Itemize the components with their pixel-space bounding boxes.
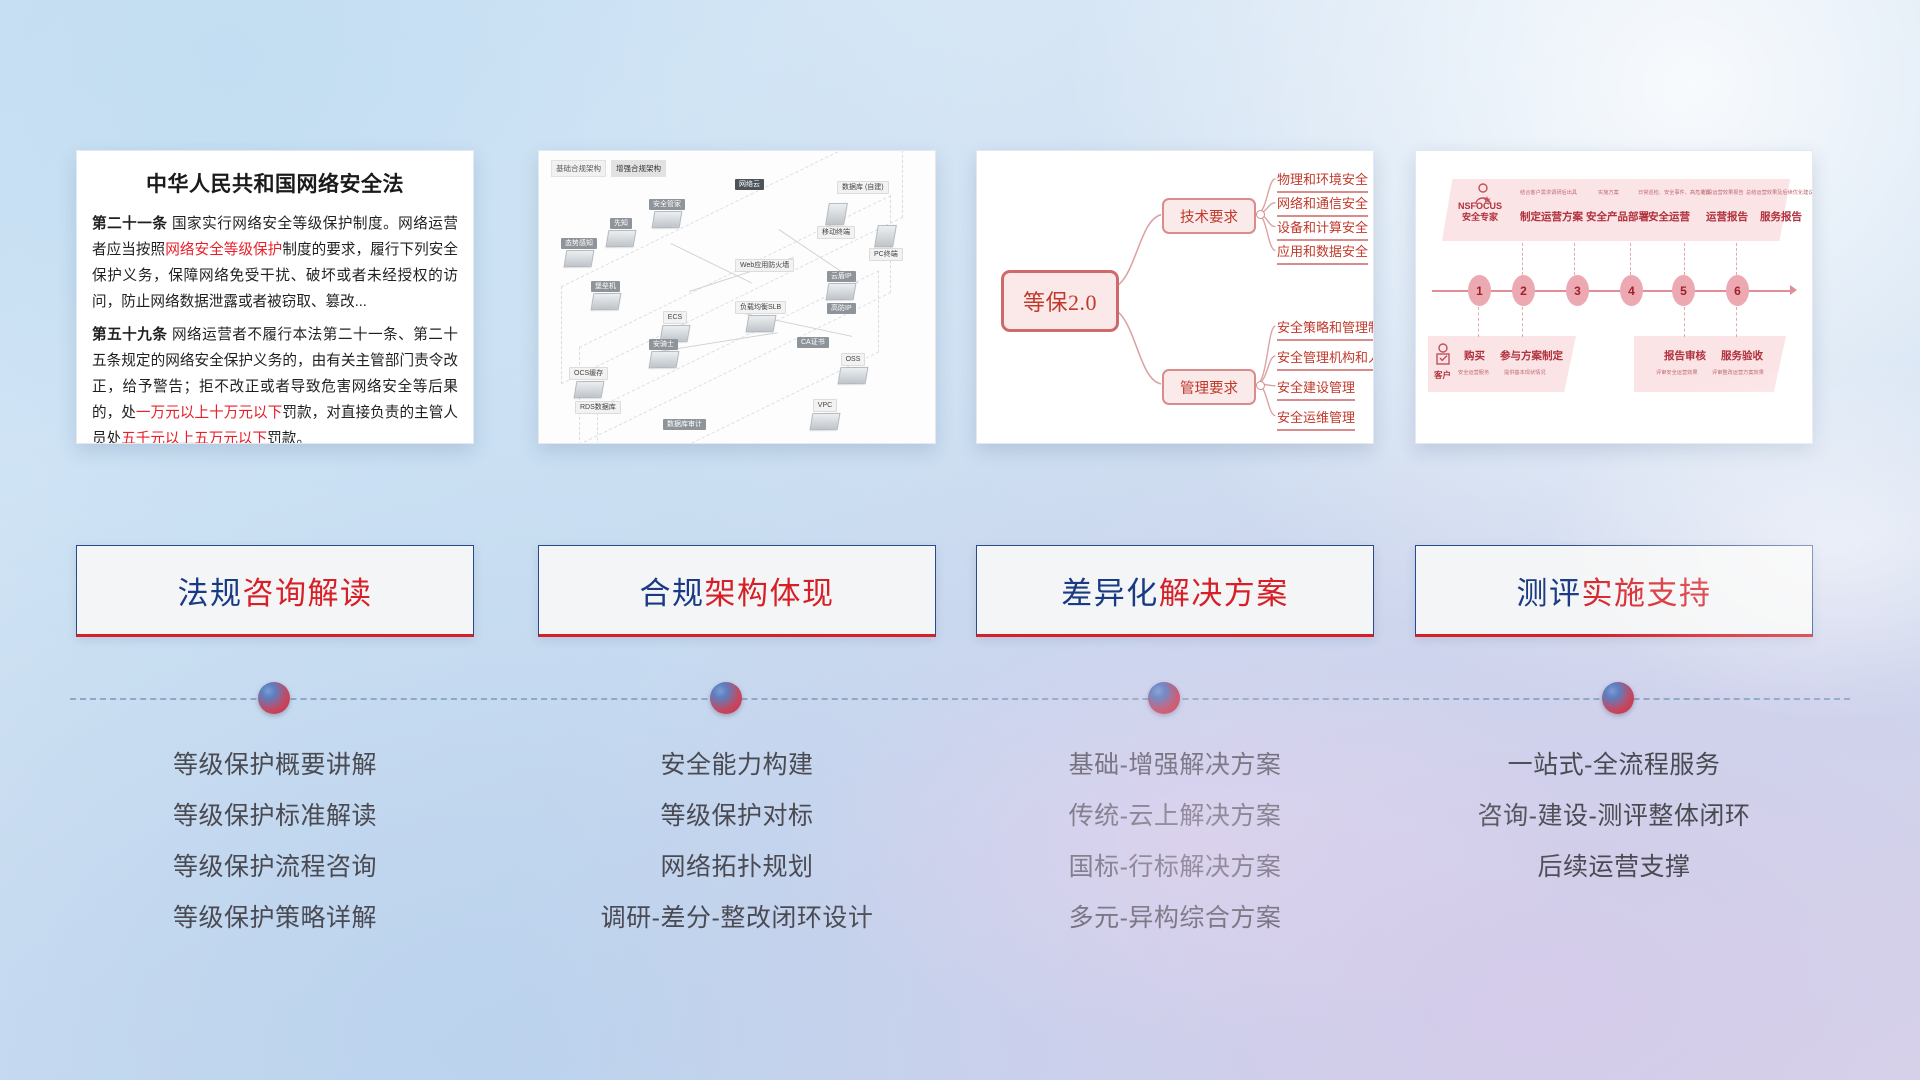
- dropper-9: [1736, 307, 1738, 337]
- server-box-icon: [810, 413, 841, 430]
- arch-node-label: 先知: [610, 218, 632, 229]
- mindmap-leaf-device-computing-security[interactable]: 设备和计算安全: [1277, 217, 1368, 241]
- provider-sub-3: 日常巡检、安全事件、高危处置: [1638, 189, 1711, 196]
- provider-title-4[interactable]: 运营报告: [1706, 209, 1748, 224]
- list-item: 等级保护概要讲解: [76, 740, 474, 791]
- law-article-59: 第五十九条 网络运营者不履行本法第二十一条、第二十五条规定的网络安全保护义务的，…: [92, 322, 458, 444]
- mindmap-root-node[interactable]: 等保2.0: [1001, 270, 1119, 332]
- slide-canvas: 中华人民共和国网络安全法 第二十一条 国家实行网络安全等级保护制度。网络运营者应…: [0, 0, 1920, 1080]
- arch-node-label: 网络云: [735, 179, 764, 190]
- provider-title-5[interactable]: 服务报告: [1760, 209, 1802, 224]
- card-cybersecurity-law[interactable]: 中华人民共和国网络安全法 第二十一条 国家实行网络安全等级保护制度。网络运营者应…: [76, 150, 474, 444]
- dropper-8: [1684, 307, 1686, 337]
- list-item: 后续运营支撑: [1415, 842, 1813, 893]
- dropper-4: [1684, 243, 1686, 275]
- provider-title-1[interactable]: 制定运营方案: [1520, 209, 1583, 224]
- monitor-icon: [875, 225, 898, 247]
- mindmap-leaf-security-org-personnel[interactable]: 安全管理机构和人员: [1277, 347, 1374, 371]
- server-box-icon: [652, 211, 683, 228]
- customer-title-4[interactable]: 服务验收: [1721, 348, 1763, 363]
- law-article-59-highlight-2: 五千元以上五万元以下: [121, 431, 267, 444]
- timeline-dashed-line: [70, 698, 1850, 700]
- law-article-59-highlight-1: 一万元以上十万元以下: [136, 405, 282, 421]
- architecture-tab-enhanced[interactable]: 增强合规架构: [611, 160, 666, 177]
- provider-brand-name: NSFOCUS: [1458, 201, 1502, 212]
- arch-node-label: RDS数据库: [575, 401, 621, 414]
- server-box-icon: [590, 293, 621, 310]
- arch-node-label: ECS: [663, 311, 687, 324]
- arch-node-label: 安骑士: [649, 339, 678, 350]
- provider-sub-1: 结合客户需求调研后出具: [1520, 189, 1577, 196]
- server-box-icon: [826, 283, 857, 300]
- card-nsfocus-service-timeline[interactable]: NSFOCUS 安全专家 结合客户需求调研后出具 制定运营方案 实施方案 安全产…: [1415, 150, 1813, 444]
- section-title-box-1[interactable]: 法规咨询解读: [76, 545, 474, 637]
- provider-sub-4: 阶段运营效果报告: [1702, 189, 1744, 196]
- arch-node-label: PC终端: [869, 248, 903, 261]
- law-article-21: 第二十一条 国家实行网络安全等级保护制度。网络运营者应当按照网络安全等级保护制度…: [92, 211, 458, 315]
- arch-node-label: 移动终端: [817, 226, 855, 239]
- law-article-21-highlight: 网络安全等级保护: [165, 242, 282, 258]
- arch-node-label: 云盾IP: [827, 271, 856, 282]
- arch-node-mobile-terminal: 移动终端: [817, 203, 855, 239]
- mindmap: 等保2.0 技术要求 管理要求 物理和环境安全 网络和通信安全 设备和计算安全 …: [977, 151, 1373, 443]
- architecture-tab-basic[interactable]: 基础合规架构: [551, 160, 606, 177]
- timeline-marker-2[interactable]: [710, 682, 742, 714]
- provider-sub-5: 总结运营效果及后续优化建议: [1746, 189, 1813, 196]
- timeline-step-3[interactable]: 3: [1566, 275, 1589, 306]
- arch-node-db-audit: 数据库审计: [663, 419, 706, 430]
- arch-node-label: 数据库 (自建): [837, 181, 889, 194]
- list-item: 等级保护流程咨询: [76, 842, 474, 893]
- list-item: 传统-云上解决方案: [976, 791, 1374, 842]
- arch-node-label: Web应用防火墙: [735, 259, 794, 272]
- arch-node-label: 高防IP: [827, 303, 856, 314]
- section-title-4: 测评实施支持: [1517, 568, 1712, 613]
- mindmap-branch-management[interactable]: 管理要求: [1162, 369, 1256, 405]
- arch-node-high-defense-ip: 高防IP: [827, 303, 856, 314]
- arch-node-waf: Web应用防火墙: [735, 259, 794, 272]
- mindmap-leaf-physical-environment-security[interactable]: 物理和环境安全: [1277, 169, 1368, 193]
- dropper-5: [1736, 243, 1738, 275]
- list-item: 国标-行标解决方案: [976, 842, 1374, 893]
- law-article-59-number: 第五十九条: [92, 327, 167, 343]
- mindmap-branch-technical[interactable]: 技术要求: [1162, 198, 1256, 234]
- law-title: 中华人民共和国网络安全法: [77, 168, 473, 198]
- section-title-1-blue: 法规: [178, 576, 243, 611]
- arch-node-bastion-host: 堡垒机: [591, 281, 620, 310]
- monitor-icon: [825, 203, 848, 225]
- list-item: 网络拓扑规划: [538, 842, 936, 893]
- arch-node-cloud: 网络云: [735, 179, 764, 190]
- architecture-tabs: 基础合规架构 增强合规架构: [551, 160, 666, 177]
- arch-node-label: VPC: [813, 399, 837, 412]
- timeline-marker-3[interactable]: [1148, 682, 1180, 714]
- timeline-marker-4[interactable]: [1602, 682, 1634, 714]
- arch-node-label: 负载均衡SLB: [735, 301, 786, 314]
- bullet-column-1: 等级保护概要讲解 等级保护标准解读 等级保护流程咨询 等级保护策略详解: [76, 740, 474, 944]
- timeline-marker-1[interactable]: [258, 682, 290, 714]
- section-title-box-2[interactable]: 合规架构体现: [538, 545, 936, 637]
- list-item: 安全能力构建: [538, 740, 936, 791]
- mindmap-leaf-security-construction-mgmt[interactable]: 安全建设管理: [1277, 377, 1355, 401]
- customer-sub-1: 安全运营服务: [1458, 369, 1489, 376]
- arch-node-xianzhi: 先知: [607, 218, 635, 247]
- arch-node-label: OCS缓存: [569, 367, 608, 380]
- provider-brand-role: 安全专家: [1458, 212, 1502, 223]
- bullet-column-3: 基础-增强解决方案 传统-云上解决方案 国标-行标解决方案 多元-异构综合方案: [976, 740, 1374, 944]
- section-title-3-blue: 差异化: [1061, 576, 1159, 611]
- list-item: 调研-差分-整改闭环设计: [538, 893, 936, 944]
- section-title-box-3[interactable]: 差异化解决方案: [976, 545, 1374, 637]
- arch-node-ocs-cache: OCS缓存: [569, 367, 608, 398]
- arch-node-label: 态势感知: [561, 238, 597, 249]
- customer-band-right: [1634, 336, 1786, 392]
- provider-title-2[interactable]: 安全产品部署: [1586, 209, 1649, 224]
- customer-sub-4: 评审整改运营方案效果: [1712, 369, 1764, 376]
- customer-title-1[interactable]: 购买: [1464, 348, 1485, 363]
- dropper-1: [1522, 243, 1524, 275]
- card-dengbao-mindmap[interactable]: 等保2.0 技术要求 管理要求 物理和环境安全 网络和通信安全 设备和计算安全 …: [976, 150, 1374, 444]
- section-title-2: 合规架构体现: [640, 568, 835, 613]
- provider-label: NSFOCUS 安全专家: [1458, 201, 1502, 223]
- arch-node-anqishi: 安骑士: [649, 339, 678, 368]
- mindmap-leaf-application-data-security[interactable]: 应用和数据安全: [1277, 241, 1368, 265]
- server-box-icon: [564, 250, 595, 267]
- arch-node-self-built-db: 数据库 (自建): [837, 181, 889, 194]
- customer-title-2[interactable]: 参与方案制定: [1500, 348, 1563, 363]
- list-item: 基础-增强解决方案: [976, 740, 1374, 791]
- timeline-step-1[interactable]: 1: [1468, 275, 1491, 306]
- list-item: 等级保护对标: [538, 791, 936, 842]
- server-box-icon: [573, 381, 604, 398]
- law-body: 第二十一条 国家实行网络安全等级保护制度。网络运营者应当按照网络安全等级保护制度…: [77, 211, 473, 444]
- bullet-column-2: 安全能力构建 等级保护对标 网络拓扑规划 调研-差分-整改闭环设计: [538, 740, 936, 944]
- law-article-59-text-c: 罚款。: [267, 431, 311, 444]
- arch-node-ca-certificate: CA证书: [797, 337, 829, 348]
- arch-node-label: 数据库审计: [663, 419, 706, 430]
- arch-node-ecs: ECS: [661, 311, 689, 342]
- section-title-box-4[interactable]: 测评实施支持: [1415, 545, 1813, 637]
- mindmap-expand-dot-technical[interactable]: [1256, 210, 1265, 219]
- nsfocus-timeline: NSFOCUS 安全专家 结合客户需求调研后出具 制定运营方案 实施方案 安全产…: [1416, 151, 1812, 443]
- law-article-21-number: 第二十一条: [92, 216, 167, 232]
- architecture-diagram: 基础合规架构 增强合规架构 网络云 安全管家: [539, 151, 935, 443]
- arch-node-cloud-shield-ip: 云盾IP: [827, 271, 856, 300]
- section-title-3-red: 解决方案: [1159, 576, 1289, 611]
- card-compliance-architecture[interactable]: 基础合规架构 增强合规架构 网络云 安全管家: [538, 150, 936, 444]
- arch-node-rds: RDS数据库: [575, 401, 621, 414]
- mindmap-leaf-network-communication-security[interactable]: 网络和通信安全: [1277, 193, 1368, 217]
- provider-sub-2: 实施方案: [1598, 189, 1619, 196]
- section-title-4-blue: 测评: [1517, 576, 1582, 611]
- arch-node-vpc: VPC: [811, 399, 839, 430]
- customer-sub-3: 评审安全运营效果: [1656, 369, 1698, 376]
- bullet-column-4: 一站式-全流程服务 咨询-建设-测评整体闭环 后续运营支撑: [1415, 740, 1813, 893]
- dropper-2: [1574, 243, 1576, 275]
- mindmap-leaf-security-ops-mgmt[interactable]: 安全运维管理: [1277, 407, 1355, 431]
- arch-node-label: 安全管家: [649, 199, 685, 210]
- provider-title-3[interactable]: 安全运营: [1648, 209, 1690, 224]
- list-item: 多元-异构综合方案: [976, 893, 1374, 944]
- list-item: 咨询-建设-测评整体闭环: [1415, 791, 1813, 842]
- list-item: 等级保护标准解读: [76, 791, 474, 842]
- timeline-step-4[interactable]: 4: [1620, 275, 1643, 306]
- server-box-icon: [648, 351, 679, 368]
- list-item: 等级保护策略详解: [76, 893, 474, 944]
- dropper-7: [1522, 307, 1524, 337]
- section-title-3: 差异化解决方案: [1061, 568, 1289, 613]
- server-box-icon: [606, 230, 637, 247]
- section-title-2-red: 架构体现: [705, 576, 835, 611]
- timeline-step-6[interactable]: 6: [1726, 275, 1749, 306]
- dropper-3: [1630, 243, 1632, 275]
- list-item: 一站式-全流程服务: [1415, 740, 1813, 791]
- customer-label: 客户: [1434, 369, 1451, 381]
- arch-node-oss: OSS: [839, 353, 867, 384]
- section-title-4-red: 实施支持: [1582, 576, 1712, 611]
- customer-icon: [1434, 343, 1452, 365]
- arch-node-security-steward: 安全管家: [649, 199, 685, 228]
- server-box-icon: [838, 367, 869, 384]
- arch-node-situational-awareness: 态势感知: [561, 238, 597, 267]
- server-box-icon: [745, 315, 776, 332]
- customer-sub-2: 提供基本现状情况: [1504, 369, 1546, 376]
- section-titles-row: 法规咨询解读 合规架构体现 差异化解决方案 测评实施支持: [0, 545, 1920, 637]
- timeline-step-5[interactable]: 5: [1672, 275, 1695, 306]
- timeline-step-2[interactable]: 2: [1512, 275, 1535, 306]
- mindmap-leaf-security-policy-system[interactable]: 安全策略和管理制度: [1277, 317, 1374, 341]
- arch-node-label: 堡垒机: [591, 281, 620, 292]
- arch-node-pc-terminal: PC终端: [869, 225, 903, 261]
- section-title-2-blue: 合规: [640, 576, 705, 611]
- customer-title-3[interactable]: 报告审核: [1664, 348, 1706, 363]
- dropper-6: [1478, 307, 1480, 337]
- timeline-arrow-icon: [1790, 285, 1797, 295]
- section-title-1: 法规咨询解读: [178, 568, 373, 613]
- section-title-1-red: 咨询解读: [243, 576, 373, 611]
- arch-node-slb: 负载均衡SLB: [735, 301, 786, 332]
- preview-cards-row: 中华人民共和国网络安全法 第二十一条 国家实行网络安全等级保护制度。网络运营者应…: [0, 150, 1920, 450]
- mindmap-expand-dot-management[interactable]: [1256, 381, 1265, 390]
- arch-node-label: CA证书: [797, 337, 829, 348]
- arch-node-label: OSS: [841, 353, 866, 366]
